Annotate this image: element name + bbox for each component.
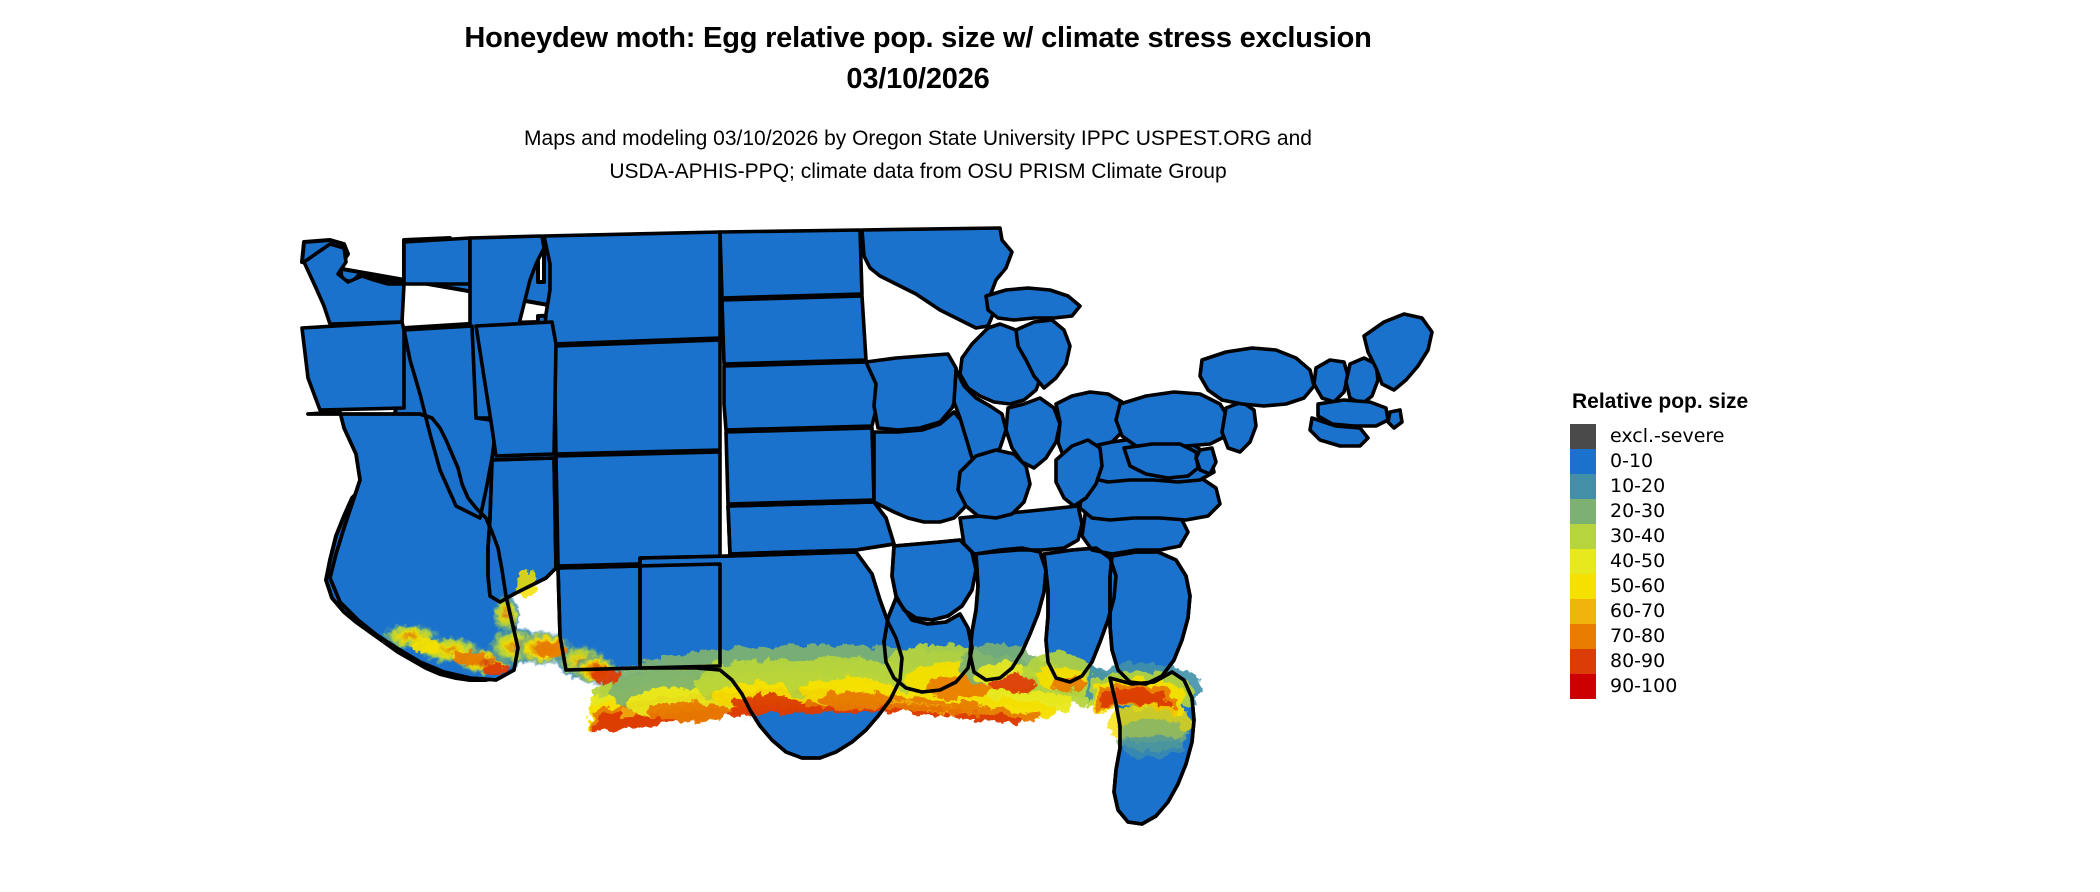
hotspot-area xyxy=(646,702,730,722)
legend-item-label: 0-10 xyxy=(1610,452,1653,471)
legend-swatch xyxy=(1570,474,1596,499)
legend-swatch xyxy=(1570,424,1596,449)
state-nebraska xyxy=(724,362,882,430)
legend-item-label: 80-90 xyxy=(1610,652,1665,671)
legend-item: 40-50 xyxy=(1570,549,1748,574)
legend-items: excl.-severe0-1010-2020-3030-4040-5050-6… xyxy=(1570,424,1748,699)
legend-item-label: excl.-severe xyxy=(1610,427,1725,446)
legend-item-label: 10-20 xyxy=(1610,477,1665,496)
legend-item: 60-70 xyxy=(1570,599,1748,624)
legend-swatch xyxy=(1570,624,1596,649)
legend-item-label: 30-40 xyxy=(1610,527,1665,546)
figure-title-line-2: 03/10/2026 xyxy=(0,59,1836,100)
figure-title: Honeydew moth: Egg relative pop. size w/… xyxy=(0,18,1836,100)
state-colorado xyxy=(556,452,720,566)
figure-title-line-1: Honeydew moth: Egg relative pop. size w/… xyxy=(0,18,1836,59)
legend-item: excl.-severe xyxy=(1570,424,1748,449)
legend-item: 20-30 xyxy=(1570,499,1748,524)
legend-item: 0-10 xyxy=(1570,449,1748,474)
state-north-dakota xyxy=(720,230,862,298)
hotspot-area xyxy=(412,639,440,653)
legend-item-label: 90-100 xyxy=(1610,677,1677,696)
legend-item-label: 50-60 xyxy=(1610,577,1665,596)
figure-subtitle-line-2: USDA-APHIS-PPQ; climate data from OSU PR… xyxy=(0,155,1836,188)
state-new-jersey xyxy=(1222,402,1256,452)
legend-item: 70-80 xyxy=(1570,624,1748,649)
us-states xyxy=(302,228,1432,824)
legend-swatch xyxy=(1570,524,1596,549)
map-layers xyxy=(302,228,1458,824)
map-figure: Honeydew moth: Egg relative pop. size w/… xyxy=(0,0,2100,892)
us-map-svg xyxy=(300,218,1560,878)
hotspot-area xyxy=(820,691,892,709)
state-vermont xyxy=(1314,360,1348,402)
legend-swatch xyxy=(1570,674,1596,699)
legend-swatch xyxy=(1570,574,1596,599)
state-south-dakota xyxy=(722,296,866,364)
legend-item: 90-100 xyxy=(1570,674,1748,699)
legend-swatch xyxy=(1570,549,1596,574)
state-montana xyxy=(544,232,720,344)
legend-item: 10-20 xyxy=(1570,474,1748,499)
legend-item: 80-90 xyxy=(1570,649,1748,674)
state-oregon xyxy=(302,322,404,410)
state-kansas xyxy=(726,428,874,504)
legend-item-label: 70-80 xyxy=(1610,627,1665,646)
state-wyoming xyxy=(554,340,720,454)
legend-swatch xyxy=(1570,449,1596,474)
state-rhode-island xyxy=(1388,410,1402,428)
legend-title: Relative pop. size xyxy=(1572,390,1748,414)
legend-item-label: 20-30 xyxy=(1610,502,1665,521)
hotspot-area xyxy=(1124,734,1184,758)
map-legend: Relative pop. size excl.-severe0-1010-20… xyxy=(1570,390,1748,699)
state-michigan-up xyxy=(986,288,1080,320)
figure-subtitle-line-1: Maps and modeling 03/10/2026 by Oregon S… xyxy=(0,122,1836,155)
legend-item: 30-40 xyxy=(1570,524,1748,549)
state-new-york xyxy=(1200,348,1314,406)
legend-swatch xyxy=(1570,499,1596,524)
legend-item-label: 60-70 xyxy=(1610,602,1665,621)
legend-item-label: 40-50 xyxy=(1610,552,1665,571)
state-delaware xyxy=(1196,448,1216,474)
state-pennsylvania xyxy=(1116,392,1230,446)
us-map xyxy=(300,218,1560,878)
hotspot-area xyxy=(452,651,484,665)
figure-subtitle: Maps and modeling 03/10/2026 by Oregon S… xyxy=(0,122,1836,188)
legend-item: 50-60 xyxy=(1570,574,1748,599)
legend-swatch xyxy=(1570,649,1596,674)
legend-swatch xyxy=(1570,599,1596,624)
